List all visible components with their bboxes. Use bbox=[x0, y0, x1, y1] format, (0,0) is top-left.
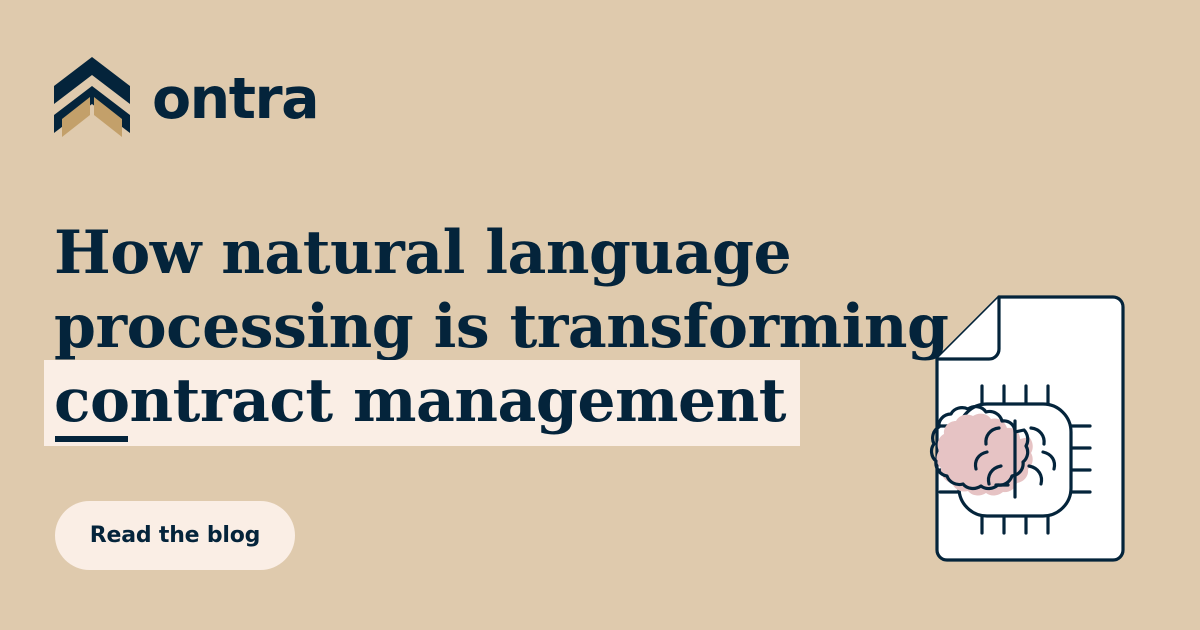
headline-line-1: How natural language bbox=[54, 216, 954, 290]
document-with-ai-chip-illustration bbox=[915, 280, 1145, 580]
ontra-chevron-logo-icon bbox=[52, 55, 132, 141]
read-the-blog-button[interactable]: Read the blog bbox=[55, 501, 295, 570]
divider-rule bbox=[55, 436, 128, 442]
read-the-blog-label: Read the blog bbox=[90, 523, 260, 548]
social-card-canvas: ontra How natural language processing is… bbox=[0, 0, 1200, 630]
ontra-wordmark: ontra bbox=[152, 71, 318, 128]
headline-line-3-highlighted: contract management bbox=[54, 360, 786, 446]
ontra-logo[interactable]: ontra bbox=[52, 55, 318, 141]
headline-line-2: processing is transforming bbox=[54, 290, 954, 364]
page-title: How natural language processing is trans… bbox=[54, 216, 954, 438]
